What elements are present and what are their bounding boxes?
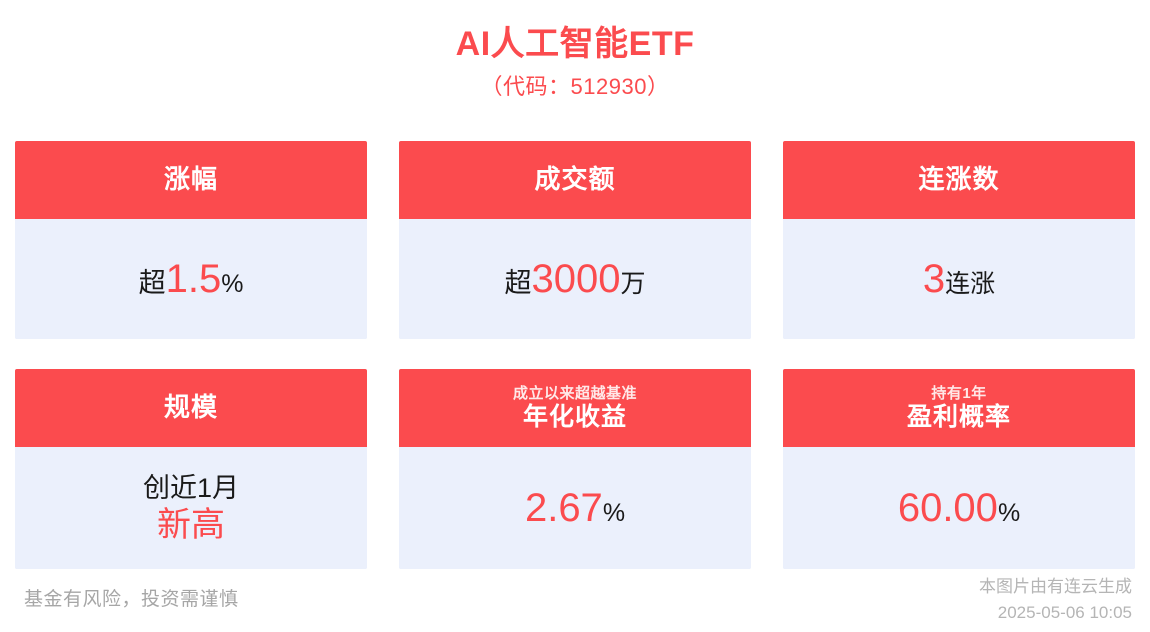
risk-disclaimer: 基金有风险，投资需谨慎: [24, 584, 239, 611]
metric-card-header: 成立以来超越基准 年化收益: [399, 369, 751, 447]
metric-card-header-sub: 持有1年: [931, 385, 986, 402]
metric-value-main: 60.00: [898, 486, 998, 530]
metric-card-header-main: 规模: [164, 393, 218, 423]
metric-value-suffix: %: [221, 271, 243, 299]
metric-card-header-main: 成交额: [534, 165, 615, 195]
metric-value-suffix: 连涨: [945, 271, 995, 299]
page-footer: 基金有风险，投资需谨慎 本图片由有连云生成 2025-05-06 10:05: [0, 568, 1150, 632]
metric-value-line: 超 3000 万: [505, 257, 646, 301]
metric-value-line: 创近1月 新高: [143, 471, 239, 545]
metric-card-annualized-return: 成立以来超越基准 年化收益 2.67 %: [399, 369, 751, 569]
generation-timestamp: 2025-05-06 10:05: [979, 600, 1132, 626]
metric-card-header: 持有1年 盈利概率: [783, 369, 1135, 447]
metric-card-turnover: 成交额 超 3000 万: [399, 141, 751, 339]
metric-card-header-main: 涨幅: [164, 165, 218, 195]
metric-card-scale: 规模 创近1月 新高: [15, 369, 367, 569]
metric-card-body: 3 连涨: [783, 219, 1135, 339]
metric-card-header-main: 连涨数: [918, 165, 999, 195]
metric-card-body: 超 3000 万: [399, 219, 751, 339]
metric-card-body: 超 1.5 %: [15, 219, 367, 339]
metric-value-suffix: %: [603, 500, 625, 528]
page-header: AI人工智能ETF （代码：512930）: [0, 0, 1150, 104]
metric-card-profit-probability: 持有1年 盈利概率 60.00 %: [783, 369, 1135, 569]
generation-source: 本图片由有连云生成: [979, 574, 1132, 600]
metric-value-prefix: 超: [139, 269, 166, 299]
generation-credit: 本图片由有连云生成 2025-05-06 10:05: [979, 574, 1132, 626]
metric-value-line: 2.67 %: [525, 486, 625, 530]
metric-card-consecutive-gains: 连涨数 3 连涨: [783, 141, 1135, 339]
metric-value-line: 60.00 %: [898, 486, 1020, 530]
metric-card-header: 连涨数: [783, 141, 1135, 219]
metric-value-prefix: 超: [505, 269, 532, 299]
metric-card-change: 涨幅 超 1.5 %: [15, 141, 367, 339]
metric-value-line: 超 1.5 %: [139, 257, 244, 301]
metric-value-line2: 新高: [143, 505, 239, 545]
metric-card-header: 规模: [15, 369, 367, 447]
metric-value-line: 3 连涨: [923, 257, 995, 301]
metric-card-grid: 涨幅 超 1.5 % 成交额 超 3000 万: [15, 141, 1135, 569]
metric-value-line1: 创近1月: [143, 471, 239, 505]
metric-value-main: 3: [923, 257, 945, 301]
metric-value-main: 3000: [532, 257, 621, 301]
metric-value-main: 2.67: [525, 486, 603, 530]
metric-card-header-main: 盈利概率: [907, 403, 1011, 432]
metric-card-header-sub: 成立以来超越基准: [513, 385, 637, 402]
metric-card-header: 成交额: [399, 141, 751, 219]
metric-card-body: 60.00 %: [783, 447, 1135, 569]
metric-value-main: 1.5: [166, 257, 222, 301]
etf-summary-card-page: AI人工智能ETF （代码：512930） 涨幅 超 1.5 % 成交额: [0, 0, 1150, 632]
page-title: AI人工智能ETF: [0, 22, 1150, 66]
fund-code-subtitle: （代码：512930）: [0, 70, 1150, 104]
metric-card-header: 涨幅: [15, 141, 367, 219]
metric-card-body: 创近1月 新高: [15, 447, 367, 569]
metric-card-body: 2.67 %: [399, 447, 751, 569]
metric-card-header-main: 年化收益: [523, 403, 627, 432]
metric-value-suffix: %: [998, 500, 1020, 528]
metric-value-suffix: 万: [620, 271, 645, 299]
